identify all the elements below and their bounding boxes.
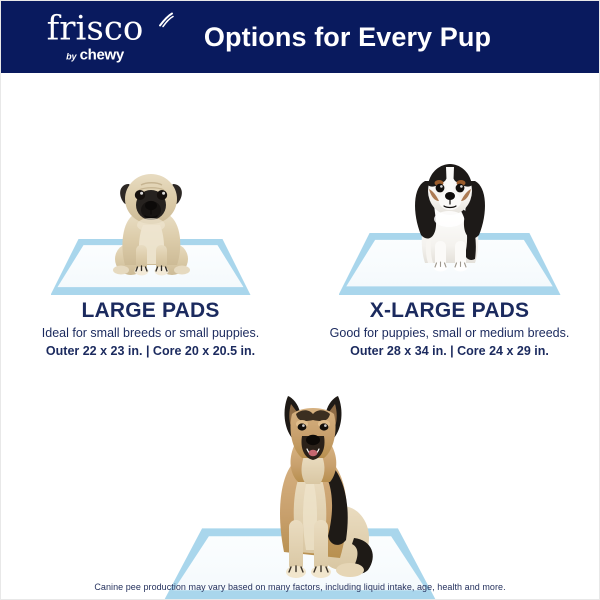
- product-title-large: LARGE PADS: [11, 299, 290, 323]
- dog-image-german-shepherd: [244, 388, 380, 584]
- product-panel-giant: GIANT PADS Great for large, medium or sm…: [1, 365, 599, 600]
- product-dimensions-xlarge: Outer 28 x 34 in. | Core 24 x 29 in.: [310, 344, 589, 360]
- caption-xlarge: X-LARGE PADS Good for puppies, small or …: [300, 299, 599, 359]
- frisco-logo: frisco by chewy: [25, 12, 165, 63]
- footer-disclaimer: Canine pee production may vary based on …: [1, 582, 599, 592]
- product-title-xlarge: X-LARGE PADS: [310, 299, 589, 323]
- content-area: LARGE PADS Ideal for small breeds or sma…: [1, 73, 599, 600]
- scene-large: [1, 140, 300, 295]
- brand-by-text: by: [66, 53, 77, 62]
- scene-xlarge: [300, 140, 599, 295]
- header-banner: frisco by chewy Options for Every Pup: [1, 1, 599, 73]
- product-infographic: frisco by chewy Options for Every Pup: [0, 0, 600, 600]
- swoosh-icon: [158, 13, 174, 28]
- scene-giant: [1, 365, 599, 600]
- brand-wordmark-text: frisco: [47, 12, 144, 46]
- top-caption-row: LARGE PADS Ideal for small breeds or sma…: [1, 299, 599, 359]
- product-panel-xlarge: [300, 73, 599, 295]
- brand-byline: by chewy: [25, 48, 165, 63]
- product-description-xlarge: Good for puppies, small or medium breeds…: [310, 326, 589, 342]
- caption-large: LARGE PADS Ideal for small breeds or sma…: [1, 299, 300, 359]
- product-description-large: Ideal for small breeds or small puppies.: [11, 326, 290, 342]
- brand-parent-text: chewy: [80, 48, 124, 63]
- product-panel-large: [1, 73, 300, 295]
- product-dimensions-large: Outer 22 x 23 in. | Core 20 x 20.5 in.: [11, 344, 290, 360]
- dog-image-pug: [105, 167, 197, 279]
- dog-image-cavalier: [399, 159, 501, 275]
- top-product-row: [1, 73, 599, 295]
